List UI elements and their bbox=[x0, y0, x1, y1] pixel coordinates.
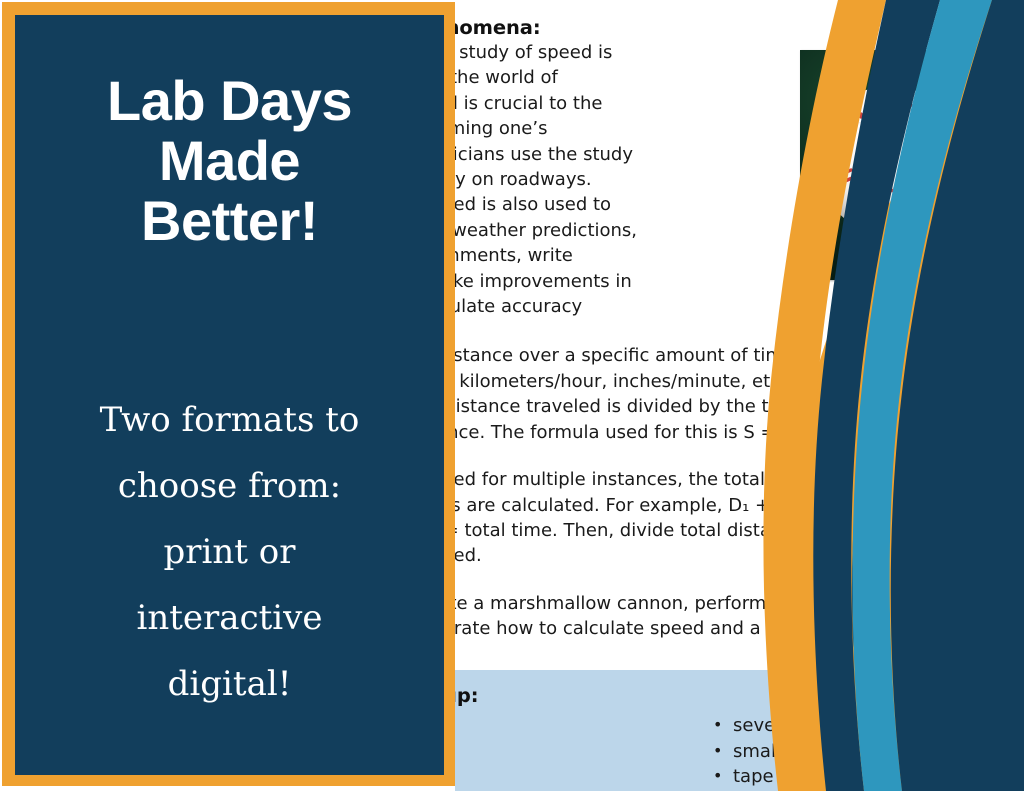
title-line: Made bbox=[15, 131, 444, 191]
page-subtitle: Two formats to choose from: print or int… bbox=[41, 387, 418, 717]
section-heading-phenomena: or Phenomena: bbox=[455, 16, 1024, 39]
definition-line: ed, the distance traveled is divided by … bbox=[455, 394, 1024, 419]
definition-line: les/hour, kilometers/hour, inches/minute… bbox=[455, 369, 1024, 394]
subtitle-line: interactive bbox=[41, 585, 418, 651]
baseball-photo bbox=[800, 50, 965, 280]
spacer bbox=[455, 319, 1024, 343]
materials-inner: er Group: rdstock e marker several full-… bbox=[455, 684, 1024, 790]
subtitle-line: print or bbox=[41, 519, 418, 585]
intro-line: ven calculate accuracy bbox=[455, 294, 1024, 319]
average-line: instances are calculated. For example, D… bbox=[455, 493, 1024, 518]
materials-heading: er Group: bbox=[455, 684, 1024, 707]
slide-canvas: or Phenomena: look, the study of speed i… bbox=[0, 0, 1024, 791]
paragraph-average-speed: rage speed for multiple instances, the t… bbox=[455, 467, 1024, 569]
materials-columns: rdstock e marker several full-s small co… bbox=[455, 713, 1024, 790]
paragraph-definition: nge in distance over a specific amount o… bbox=[455, 343, 1024, 445]
materials-column-left: rdstock e marker bbox=[455, 713, 705, 790]
left-panel-frame: Lab Days Made Better! Two formats to cho… bbox=[2, 2, 455, 786]
materials-section: er Group: rdstock e marker several full-… bbox=[455, 670, 1024, 791]
activity-line: will create a marshmallow cannon, perfor… bbox=[455, 591, 1024, 616]
list-item: small cont bbox=[705, 739, 1024, 765]
list-item: several full-s bbox=[705, 713, 1024, 739]
average-line: rage speed for multiple instances, the t… bbox=[455, 467, 1024, 492]
left-panel-card: Lab Days Made Better! Two formats to cho… bbox=[15, 15, 444, 775]
average-line: T₁ + T₂ = total time. Then, divide total… bbox=[455, 518, 1024, 543]
subtitle-line: digital! bbox=[41, 651, 418, 717]
list-item: rdstock bbox=[455, 713, 705, 739]
baseball-ball-shape bbox=[816, 86, 964, 234]
average-line: rage speed. bbox=[455, 543, 1024, 568]
activity-line: demonstrate how to calculate speed and a bbox=[455, 616, 1024, 641]
spacer bbox=[455, 569, 1024, 591]
list-item: e bbox=[455, 739, 705, 765]
materials-column-right: several full-s small cont tape mea bbox=[705, 713, 1024, 790]
subtitle-line: Two formats to bbox=[41, 387, 418, 453]
definition-line: nge in distance over a specific amount o… bbox=[455, 343, 1024, 368]
title-line: Better! bbox=[15, 191, 444, 251]
spacer bbox=[455, 445, 1024, 467]
list-item: marker bbox=[455, 764, 705, 790]
definition-line: he distance. The formula used for this i… bbox=[455, 420, 1024, 445]
page-title: Lab Days Made Better! bbox=[15, 71, 444, 251]
list-item: tape mea bbox=[705, 764, 1024, 790]
baseball-seam-icon bbox=[816, 86, 964, 234]
paragraph-activity: will create a marshmallow cannon, perfor… bbox=[455, 591, 1024, 642]
subtitle-line: choose from: bbox=[41, 453, 418, 519]
title-line: Lab Days bbox=[15, 71, 444, 131]
